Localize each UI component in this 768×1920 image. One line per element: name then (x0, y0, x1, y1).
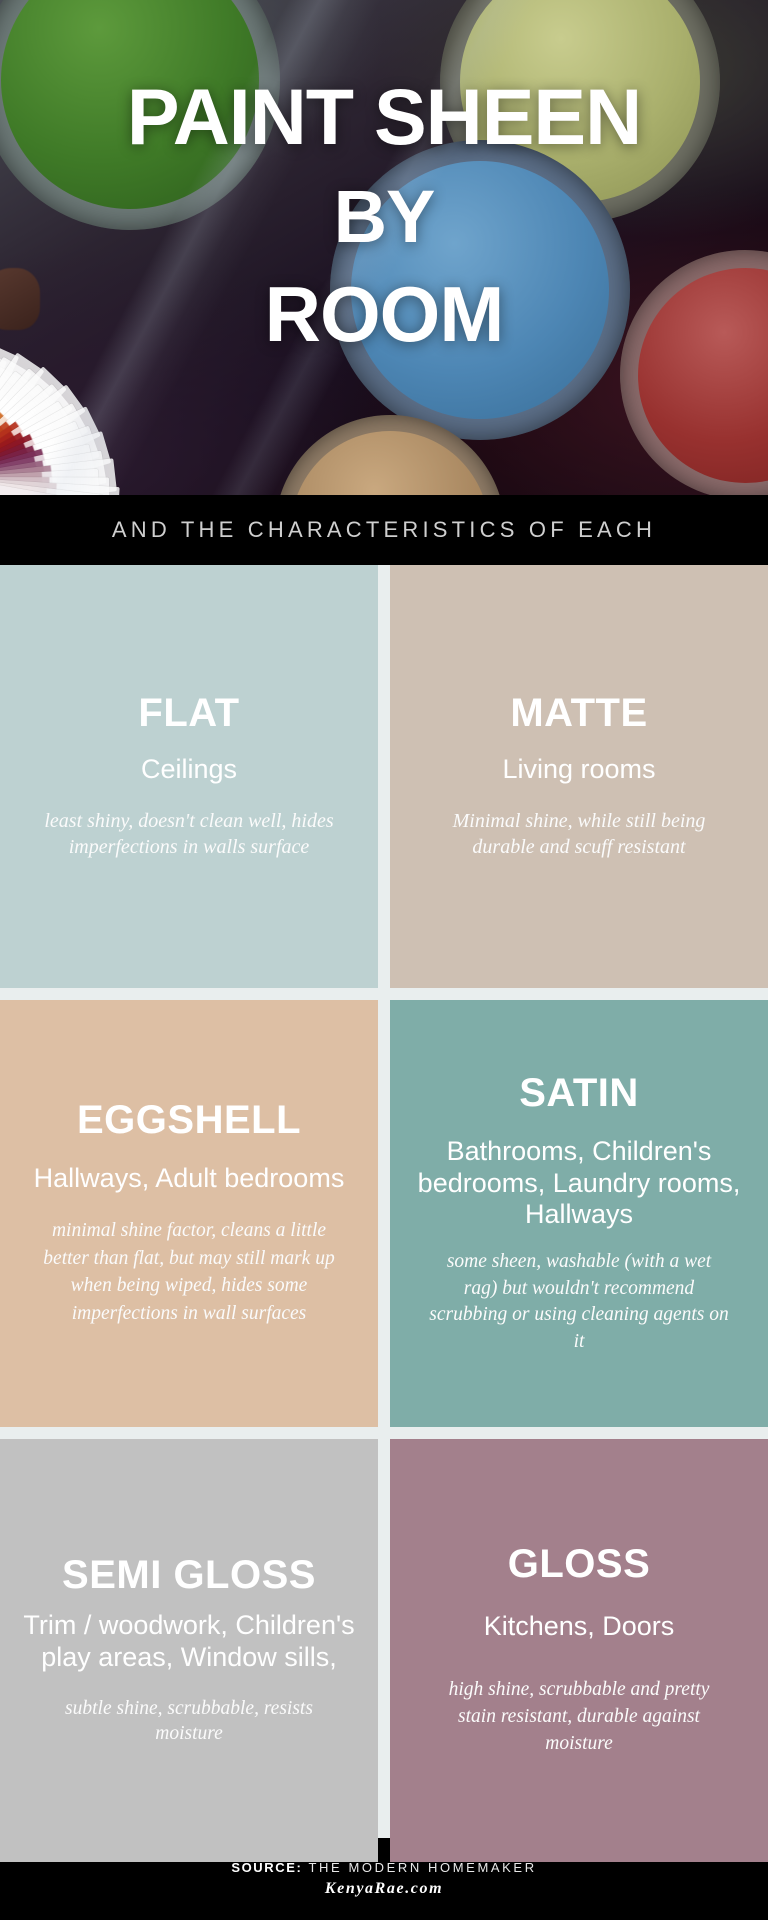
sheen-title: SEMI GLOSS (62, 1554, 316, 1596)
sheen-card-eggshell[interactable]: EGGSHELL Hallways, Adult bedrooms minima… (0, 1000, 378, 1427)
sheen-title: SATIN (519, 1072, 639, 1114)
sheen-rooms: Trim / woodwork, Children's play areas, … (22, 1610, 356, 1674)
hero-title-line-3: ROOM (265, 276, 504, 352)
sheen-description: minimal shine factor, cleans a little be… (39, 1217, 339, 1328)
subtitle-text: AND THE CHARACTERISTICS OF EACH (112, 517, 656, 543)
hero-title-line-2: BY (334, 181, 435, 254)
sheen-card-gloss[interactable]: GLOSS Kitchens, Doors high shine, scrubb… (390, 1439, 768, 1862)
sheen-rooms: Living rooms (502, 754, 655, 786)
sheen-rooms: Kitchens, Doors (484, 1611, 675, 1643)
sheen-card-semi-gloss[interactable]: SEMI GLOSS Trim / woodwork, Children's p… (0, 1439, 378, 1862)
source-line: SOURCE: THE MODERN HOMEMAKER (231, 1860, 536, 1875)
sheen-title: MATTE (510, 692, 647, 734)
hero-title-block: PAINT SHEEN BY ROOM (0, 0, 768, 495)
sheen-card-flat[interactable]: FLAT Ceilings least shiny, doesn't clean… (0, 565, 378, 988)
hero-section: PAINT SHEEN BY ROOM (0, 0, 768, 495)
sheen-description: subtle shine, scrubbable, resists moistu… (39, 1696, 339, 1747)
sheen-title: FLAT (138, 692, 239, 734)
infographic-root: PAINT SHEEN BY ROOM AND THE CHARACTERIST… (0, 0, 768, 1920)
site-credit: KenyaRae.com (325, 1880, 443, 1898)
sheen-title: GLOSS (508, 1543, 651, 1585)
source-label: SOURCE: (231, 1860, 302, 1875)
sheen-title: EGGSHELL (77, 1099, 301, 1141)
hero-title-line-1: PAINT SHEEN (127, 78, 641, 155)
sheen-description: some sheen, washable (with a wet rag) bu… (429, 1249, 729, 1355)
sheen-rooms: Bathrooms, Children's bedrooms, Laundry … (412, 1136, 746, 1232)
sheen-description: Minimal shine, while still being durable… (429, 808, 729, 861)
subtitle-bar: AND THE CHARACTERISTICS OF EACH (0, 495, 768, 565)
sheen-description: least shiny, doesn't clean well, hides i… (39, 808, 339, 861)
sheen-card-matte[interactable]: MATTE Living rooms Minimal shine, while … (390, 565, 768, 988)
sheen-rooms: Ceilings (141, 754, 237, 786)
sheen-rooms: Hallways, Adult bedrooms (34, 1163, 345, 1195)
sheen-description: high shine, scrubbable and pretty stain … (434, 1677, 724, 1758)
sheen-card-satin[interactable]: SATIN Bathrooms, Children's bedrooms, La… (390, 1000, 768, 1427)
sheen-grid: FLAT Ceilings least shiny, doesn't clean… (0, 565, 768, 1838)
source-name: THE MODERN HOMEMAKER (308, 1860, 536, 1875)
